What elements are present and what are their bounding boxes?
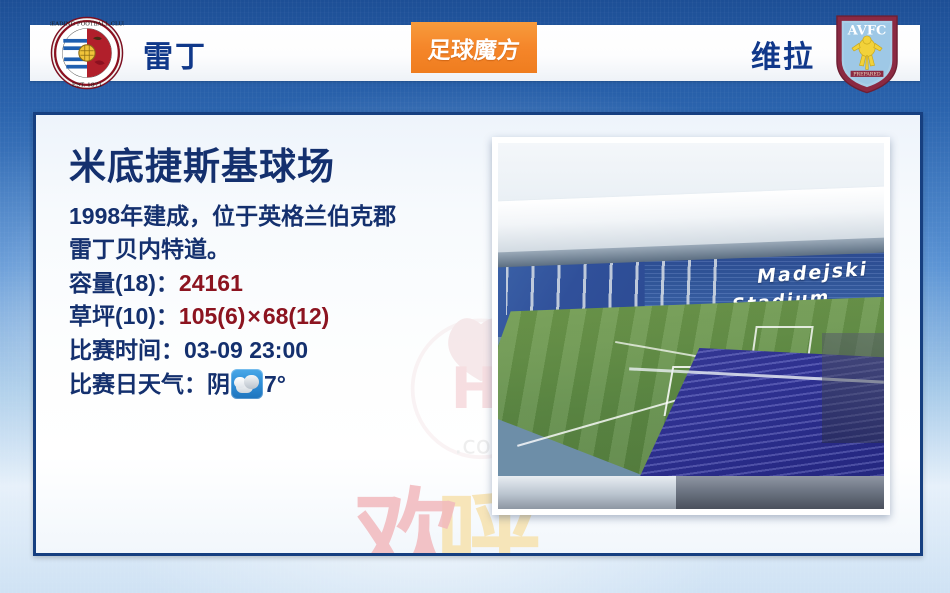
pitch-colon: ：	[156, 300, 179, 334]
brand-logo-text: 足球魔方	[427, 31, 521, 65]
reading-fc-crest: READING FOOTBALL CLUB EST. 1871	[50, 16, 124, 90]
weather-condition: 阴	[207, 368, 230, 402]
pitch-row: 草坪(10) ： 105(6) × 68(12)	[69, 300, 489, 334]
pitch-separator: ×	[245, 300, 262, 334]
weather-colon: ：	[184, 368, 207, 402]
stadium-description-line-2: 雷丁贝内特道。	[69, 233, 489, 267]
brand-logo[interactable]: 足球魔方	[411, 22, 537, 73]
stadium-photo-frame[interactable]: Madejski Stadium	[492, 137, 890, 515]
watermark-char-1: 欢	[354, 487, 459, 556]
watermark-domain: .co	[454, 430, 491, 459]
weather-row: 比赛日天气 ： 阴 7°	[69, 368, 489, 402]
capacity-value: 24161	[179, 267, 243, 301]
svg-text:READING FOOTBALL CLUB: READING FOOTBALL CLUB	[50, 22, 124, 28]
stadium-info: 米底捷斯基球场 1998年建成，位于英格兰伯克郡 雷丁贝内特道。 容量(18) …	[69, 147, 489, 401]
match-time-row: 比赛时间 ： 03-09 23:00	[69, 334, 489, 368]
pitch-label: 草坪(10)	[69, 300, 156, 334]
pitch-width: 68(12)	[263, 300, 329, 334]
svg-text:PREPARED: PREPARED	[853, 72, 881, 78]
photo-bottom-walkway	[498, 476, 676, 509]
capacity-row: 容量(18) ： 24161	[69, 267, 489, 301]
stadium-description-line-1: 1998年建成，位于英格兰伯克郡	[69, 200, 489, 234]
capacity-label: 容量(18)	[69, 267, 156, 301]
info-panel: H H .co 呼 欢 米底捷斯基球场 1998年建成，位于英格兰伯克郡 雷丁贝…	[33, 112, 923, 556]
capacity-colon: ：	[156, 267, 179, 301]
match-time-colon: ：	[161, 334, 184, 368]
app-root: READING FOOTBALL CLUB EST. 1871 雷丁 足球魔方 …	[0, 0, 950, 593]
home-team-name: 雷丁	[143, 32, 383, 76]
photo-corner-shadow	[822, 333, 884, 443]
cloudy-icon	[231, 369, 263, 399]
weather-temperature: 7°	[264, 368, 286, 402]
pitch-length: 105(6)	[179, 300, 245, 334]
weather-label: 比赛日天气	[69, 368, 184, 402]
match-time-label: 比赛时间	[69, 334, 161, 368]
match-time-value: 03-09 23:00	[184, 334, 308, 368]
stadium-name: 米底捷斯基球场	[69, 147, 489, 188]
aston-villa-crest: AVFC PREPARED	[832, 12, 902, 94]
svg-text:EST. 1871: EST. 1871	[72, 82, 102, 88]
madejski-stadium-photo: Madejski Stadium	[498, 143, 884, 509]
away-team-name: 维拉	[600, 32, 815, 76]
